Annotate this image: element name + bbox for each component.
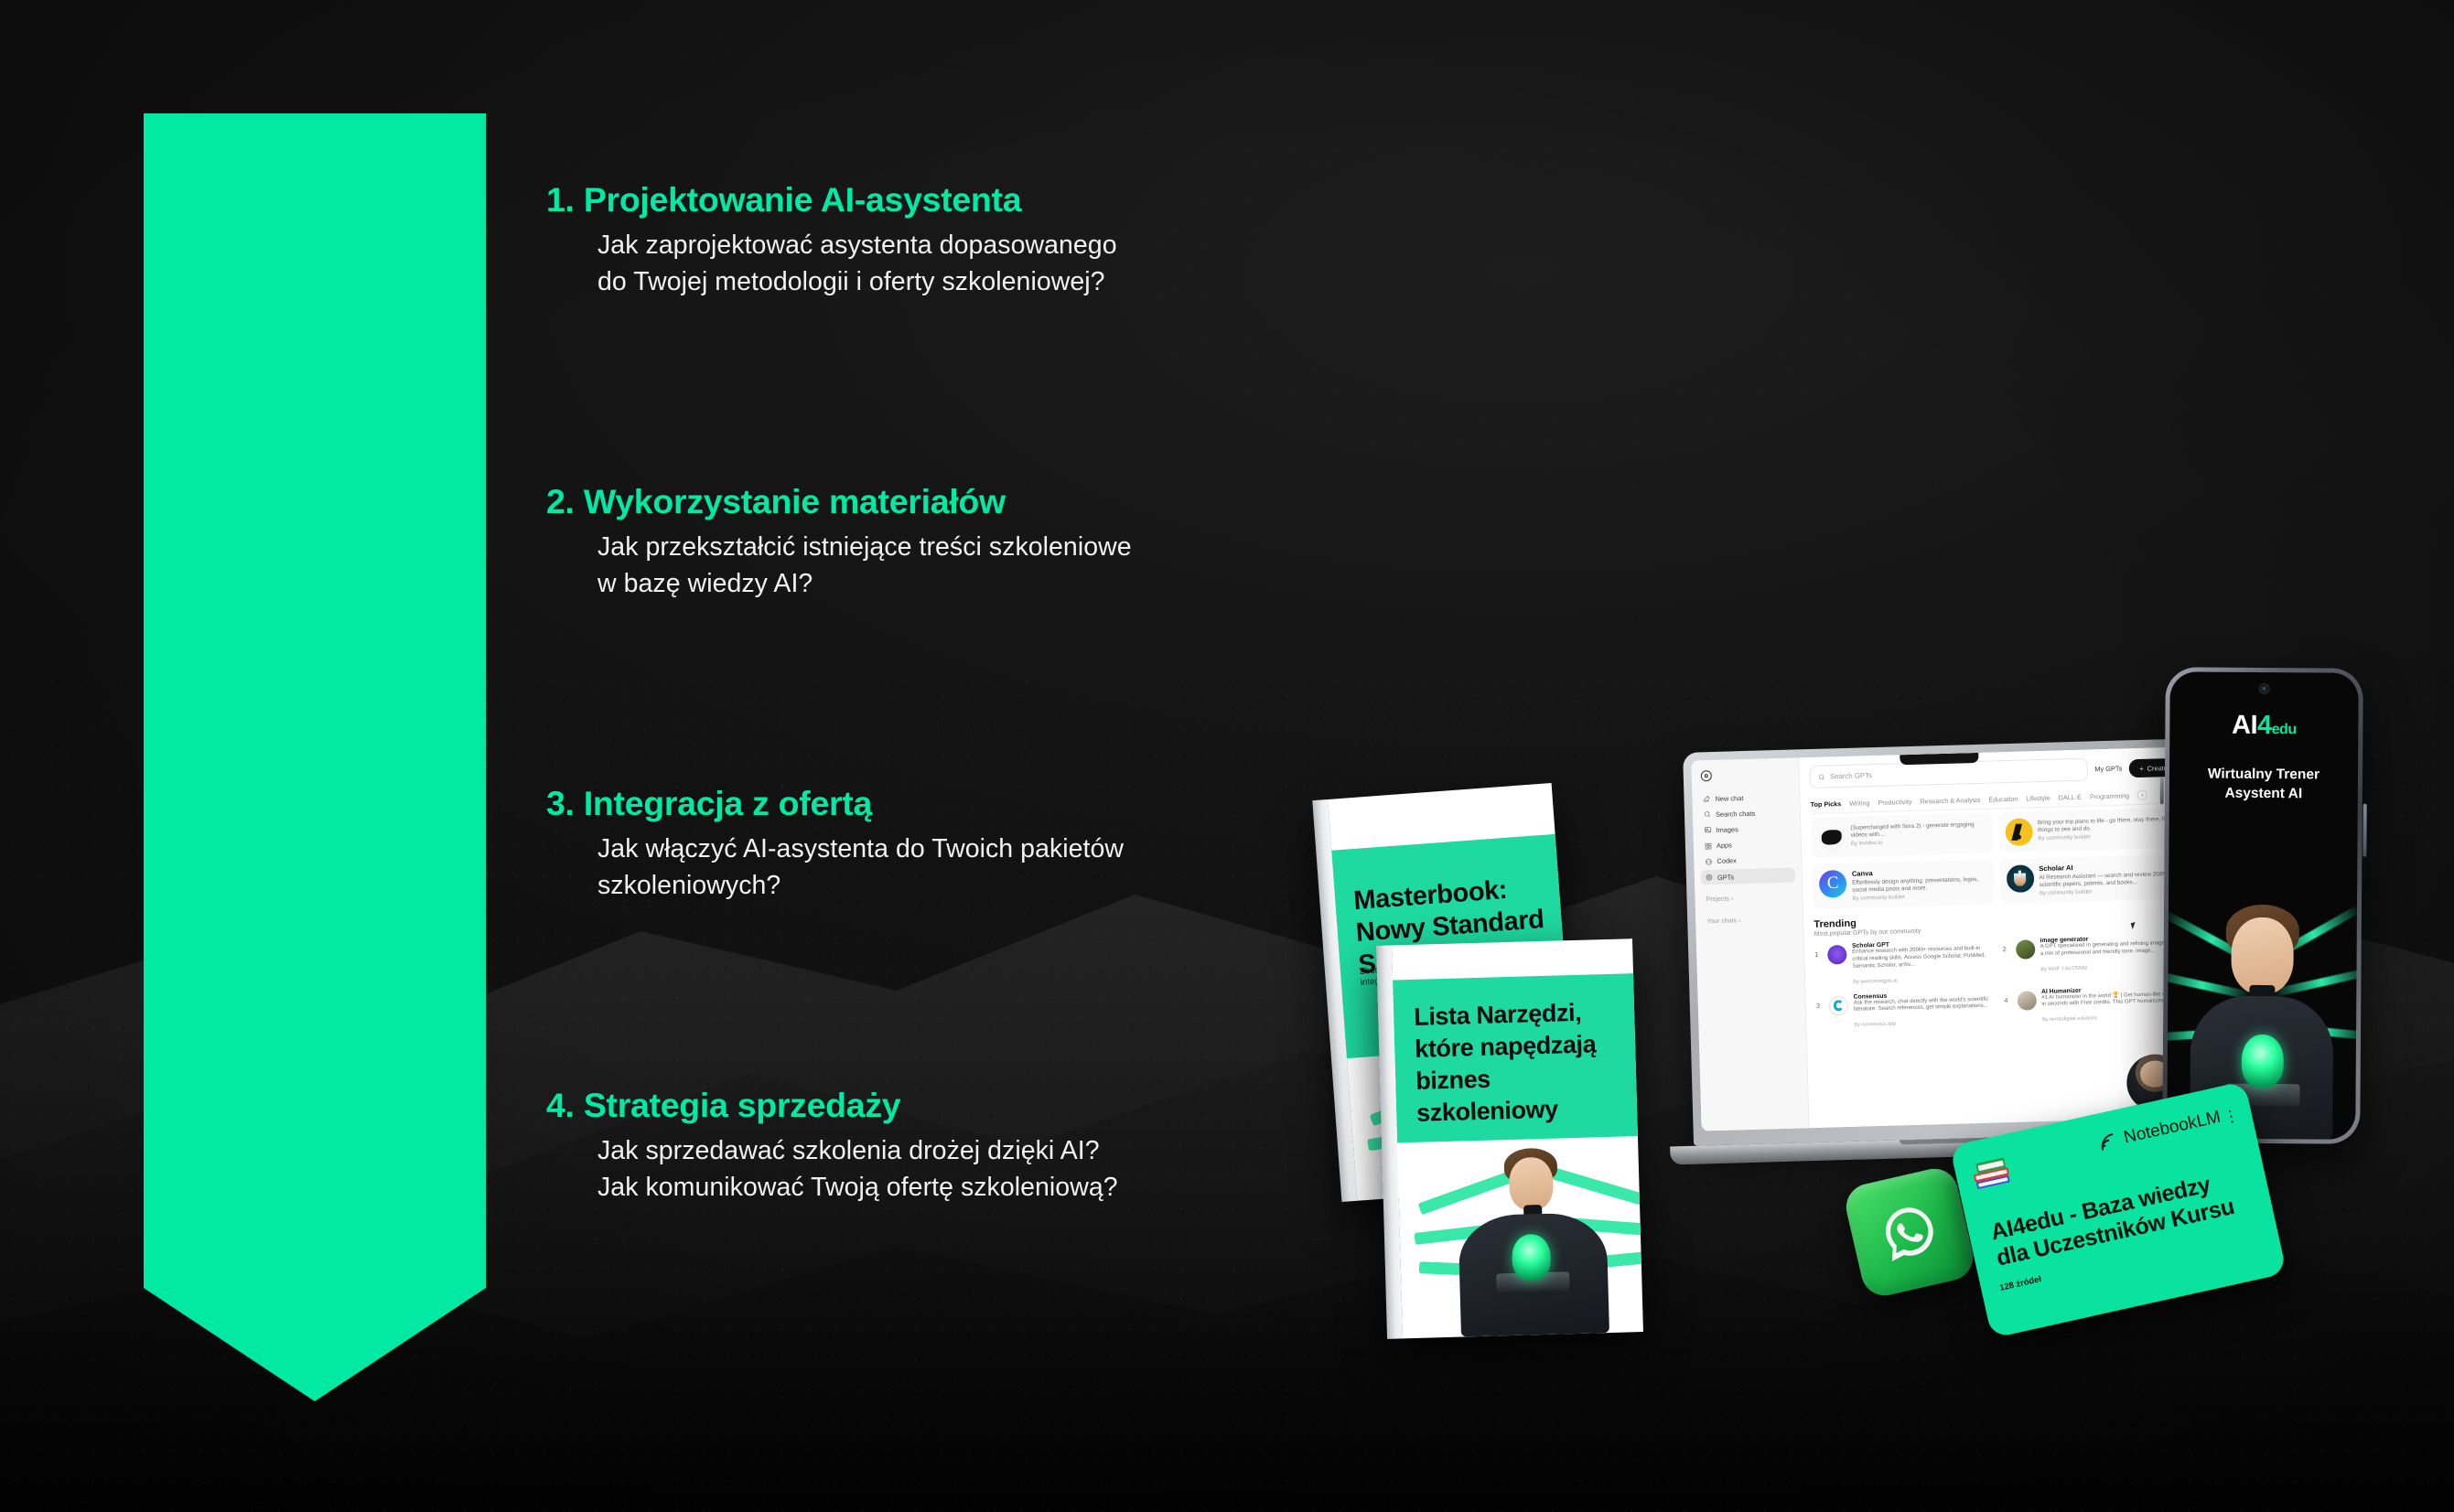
notebooklm-logo-icon <box>2096 1131 2120 1154</box>
gpt-card-text: Canva Effortlessly design anything: pres… <box>1852 866 1987 902</box>
tab-dalle[interactable]: DALL·E <box>2059 793 2082 802</box>
trending-author: By nerdsdigital.solutions <box>2042 1016 2097 1024</box>
gpt-card-author: By community builder <box>2038 832 2173 842</box>
gpt-card-scholar-ai[interactable]: Scholar AI AI Research Assistant — searc… <box>1999 854 2181 904</box>
gpt-card-canva[interactable]: C Canva Effortlessly design anything: pr… <box>1813 859 1995 908</box>
step-heading-2: Wykorzystanie materiałów <box>584 482 1006 520</box>
step-heading-3: Integracja z ofertą <box>584 784 872 822</box>
code-icon <box>1705 858 1712 865</box>
featured-row-bottom: C Canva Effortlessly design anything: pr… <box>1813 854 2181 909</box>
my-gpts-link[interactable]: My GPTs <box>2094 757 2122 774</box>
phone-mockup: AI4edu Wirtualny Trener Asystent AI <box>2162 667 2363 1143</box>
canva-logo-icon: C <box>1819 870 1847 898</box>
gpt-card-author: By community builder <box>2040 887 2175 896</box>
avatar <box>2017 991 2037 1011</box>
chevron-arrow-stack <box>144 113 486 1401</box>
tab-education[interactable]: Education <box>1988 795 2018 804</box>
step-number-2: 2. <box>546 482 575 520</box>
step-heading-1: Projektowanie AI-asystenta <box>584 180 1021 219</box>
plus-icon: + <box>2139 764 2144 772</box>
trending-rank: 3 <box>1816 994 1824 1009</box>
phone-power-button[interactable] <box>2363 804 2366 857</box>
sidebar-label: GPTs <box>1717 873 1734 882</box>
more-options-icon[interactable]: ⋮ <box>2223 1110 2240 1122</box>
gpt-card-desc: AI Research Assistant — search and revie… <box>2039 870 2174 888</box>
search-placeholder: Search GPTs <box>1830 771 1872 780</box>
sidebar-label: New chat <box>1715 794 1743 803</box>
logo-part-ai: AI <box>2232 711 2257 740</box>
sidebar-label: Search chats <box>1716 810 1755 819</box>
tab-lifestyle[interactable]: Lifestyle <box>2026 794 2050 803</box>
gpts-icon <box>1706 874 1713 881</box>
trending-item[interactable]: 4 AI Humanizer #1 AI humanizer in the wo… <box>2004 984 2185 1026</box>
tab-programming[interactable]: Programming <box>2090 791 2129 800</box>
steps-list: 1. Projektowanie AI-asystenta Jak zaproj… <box>546 0 1461 1512</box>
trending-desc: A GPT specialized in generating and refi… <box>2040 940 2183 959</box>
trending-item[interactable]: 1 Scholar GPT Enhance research with 200M… <box>1814 938 1996 988</box>
step-body-1: Jak zaprojektować asystenta dopasowanego… <box>597 227 1461 301</box>
chevron-down-icon-6 <box>144 1035 486 1401</box>
pencil-square-icon <box>1703 795 1710 802</box>
sidebar-section-your-chats[interactable]: Your chats › <box>1702 913 1796 929</box>
book-title-line2: które napędzają <box>1415 1027 1629 1066</box>
notebooklm-brand: NotebookLM <box>2096 1108 2223 1154</box>
hologram-head-icon <box>2242 1035 2284 1088</box>
step-body-line: Jak zaprojektować asystenta dopasowanego <box>597 227 1461 263</box>
hologram-head-icon <box>1512 1234 1551 1281</box>
book-cover: Lista Narzędzi, które napędzają biznes s… <box>1392 938 1643 1338</box>
step-title-2: 2. Wykorzystanie materiałów <box>546 482 1461 520</box>
logo-part-edu: edu <box>2272 722 2297 737</box>
chatgpt-gpts-store: Search GPTs My GPTs + Create Top Picks W… <box>1799 747 2197 1129</box>
book-title: Lista Narzędzi, które napędzają biznes s… <box>1414 995 1631 1130</box>
laptop-lid: New chat Search chats Images Apps <box>1683 738 2206 1145</box>
step-body-line: do Twojej metodologii i oferty szkolenio… <box>597 263 1461 300</box>
gpt-card-text: Scholar AI AI Research Assistant — searc… <box>2039 861 2174 896</box>
trending-text: image generator A GPT specialized in gen… <box>2040 934 2183 975</box>
gpt-card-desc: (Supercharged with Sora 2) - generate en… <box>1850 820 1986 839</box>
avatar <box>1817 823 1846 852</box>
book-title-line3: biznes szkoleniowy <box>1415 1060 1631 1131</box>
sidebar-item-codex[interactable]: Codex <box>1700 852 1794 869</box>
gpt-card[interactable]: Bring your trip plans to life - go there… <box>1998 808 2180 853</box>
avatar <box>2015 939 2035 960</box>
presenter-photo <box>1437 1146 1626 1338</box>
trending-author: By awesomegpts.ai <box>1853 978 1898 984</box>
trending-item[interactable]: 2 image generator A GPT specialized in g… <box>2002 934 2183 983</box>
gpt-card-desc: Bring your trip plans to life - go there… <box>2038 815 2173 833</box>
trending-row-1: 1 Scholar GPT Enhance research with 200M… <box>1814 934 2183 989</box>
trending-rank: 4 <box>2004 990 2011 1004</box>
search-icon <box>1704 810 1711 818</box>
sidebar-item-images[interactable]: Images <box>1699 820 1793 838</box>
whatsapp-glyph-icon <box>1873 1196 1945 1268</box>
store-header: Search GPTs My GPTs + Create <box>1810 756 2179 788</box>
phone-headline: Wirtualny Trener Asystent AI <box>2169 764 2358 804</box>
sidebar-label: Images <box>1716 825 1738 834</box>
tab-research-analysis[interactable]: Research & Analysis <box>1920 796 1980 806</box>
sidebar-item-apps[interactable]: Apps <box>1700 836 1794 853</box>
featured-row-top: (Supercharged with Sora 2) - generate en… <box>1811 808 2180 858</box>
step-title-4: 4. Strategia sprzedaży <box>546 1086 1461 1124</box>
trending-rank: 2 <box>2002 938 2009 953</box>
avatar <box>1827 945 1847 965</box>
phone-volume-button[interactable] <box>2160 777 2164 804</box>
sidebar-label: Codex <box>1717 857 1737 866</box>
book-lista-narzedzi: Lista Narzędzi, które napędzają biznes s… <box>1376 938 1643 1339</box>
phone-headline-line2: Asystent AI <box>2169 783 2358 804</box>
laptop-screen: New chat Search chats Images Apps <box>1691 747 2197 1131</box>
notebooklm-label: NotebookLM <box>2122 1108 2223 1149</box>
tabs-next-arrow-icon[interactable]: › <box>2137 790 2147 800</box>
scholar-ai-logo-icon <box>2006 864 2034 893</box>
sidebar-item-new-chat[interactable]: New chat <box>1698 789 1792 807</box>
trending-row-2: 3 Consensus Ask the research, chat direc… <box>1816 984 2185 1032</box>
step-number-1: 1. <box>546 180 575 219</box>
step-item-4: 4. Strategia sprzedaży Jak sprzedawać sz… <box>546 1086 1461 1206</box>
books-stack-icon <box>1967 1148 2017 1196</box>
tab-writing[interactable]: Writing <box>1849 799 1869 808</box>
step-item-2: 2. Wykorzystanie materiałów Jak przekszt… <box>546 482 1461 603</box>
chatgpt-sidebar: New chat Search chats Images Apps <box>1691 757 1809 1131</box>
gpt-card[interactable]: (Supercharged with Sora 2) - generate en… <box>1811 813 1993 858</box>
phone-camera-icon <box>2259 683 2270 694</box>
notebook-title: AI4edu - Baza wiedzy dla Uczestników Kur… <box>1988 1163 2257 1272</box>
image-icon <box>1704 827 1711 834</box>
trending-item[interactable]: 3 Consensus Ask the research, chat direc… <box>1816 990 1997 1032</box>
logo-part-4: 4 <box>2257 711 2272 740</box>
step-heading-4: Strategia sprzedaży <box>584 1086 901 1124</box>
phone-frame: AI4edu Wirtualny Trener Asystent AI <box>2162 667 2363 1143</box>
ai4edu-logo: AI4edu <box>2169 710 2358 741</box>
trending-rank: 1 <box>1814 944 1822 959</box>
search-icon <box>1818 773 1825 780</box>
trending-text: Consensus Ask the research, chat directl… <box>1854 990 1997 1031</box>
openai-logo-icon <box>1701 770 1712 781</box>
step-body-line: Jak przekształcić istniejące treści szko… <box>597 529 1461 565</box>
gpt-card-text: (Supercharged with Sora 2) - generate en… <box>1850 820 1986 851</box>
sidebar-label: Apps <box>1717 842 1732 850</box>
gpt-card-author: By invideo.io <box>1851 838 1986 847</box>
laptop-mockup: New chat Search chats Images Apps <box>1683 738 2206 1145</box>
sidebar-item-gpts[interactable]: GPTs <box>1701 867 1795 885</box>
gpt-card-author: By community builder <box>1853 893 1988 902</box>
product-mockup-cluster: New chat Search chats Images Apps <box>1327 640 2454 1512</box>
trending-author: By NAIF J ALOTAIBI <box>2040 965 2087 971</box>
avatar <box>2005 818 2033 846</box>
grid-icon <box>1705 842 1712 850</box>
step-title-1: 1. Projektowanie AI-asystenta <box>546 180 1461 219</box>
trending-author: By consensus.app <box>1854 1022 1896 1028</box>
gpt-card-text: Bring your trip plans to life - go there… <box>2038 814 2173 845</box>
phone-headline-line1: Wirtualny Trener <box>2169 764 2358 785</box>
step-number-4: 4. <box>546 1086 575 1124</box>
step-number-3: 3. <box>546 784 575 822</box>
sidebar-section-projects[interactable]: Projects › <box>1701 891 1795 907</box>
phone-screen: AI4edu Wirtualny Trener Asystent AI <box>2167 671 2359 1139</box>
tab-top-picks[interactable]: Top Picks <box>1811 799 1842 809</box>
trending-text: Scholar GPT Enhance research with 200M+ … <box>1852 938 1996 987</box>
step-body-2: Jak przekształcić istniejące treści szko… <box>597 529 1461 603</box>
avatar <box>1829 996 1849 1016</box>
tab-productivity[interactable]: Productivity <box>1878 798 1911 807</box>
step-item-1: 1. Projektowanie AI-asystenta Jak zaproj… <box>546 180 1461 301</box>
sidebar-item-search-chats[interactable]: Search chats <box>1699 805 1793 822</box>
trending-desc: Enhance research with 200M+ resources an… <box>1852 945 1995 970</box>
step-body-line: w bazę wiedzy AI? <box>597 565 1461 602</box>
gpt-card-desc: Effortlessly design anything: presentati… <box>1852 875 1987 894</box>
notebook-sources-count: 128 źródeł <box>1998 1274 2042 1293</box>
